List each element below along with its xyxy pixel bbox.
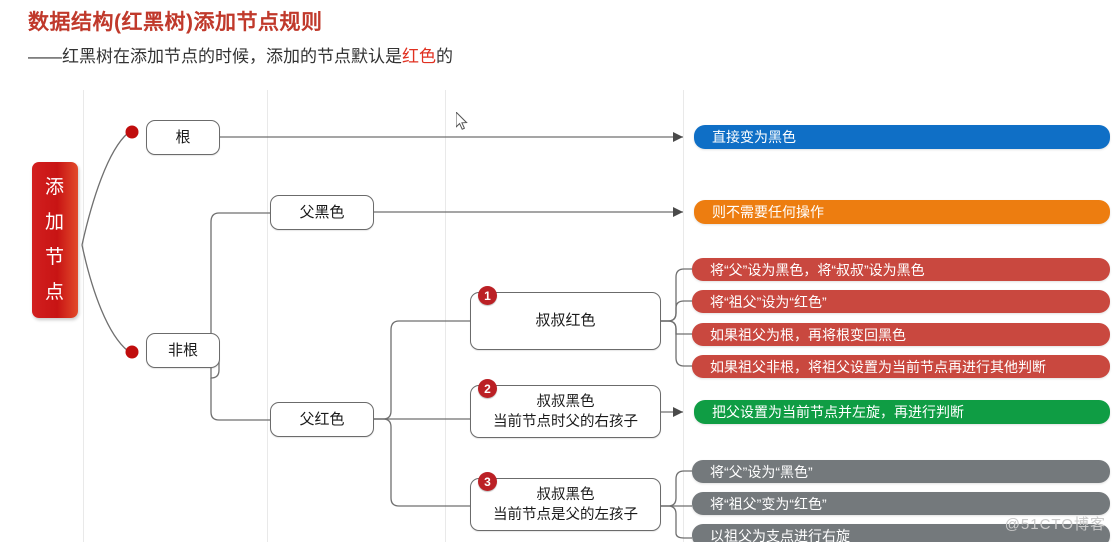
outcome-case3-step-2-label: 将“祖父”变为“红色” bbox=[710, 494, 827, 514]
page-subtitle: ——红黑树在添加节点的时候，添加的节点默认是红色的 bbox=[28, 42, 453, 67]
root-char-2: 节 bbox=[32, 240, 78, 275]
outcome-case1-step-3-label: 如果祖父为根，再将根变回黑色 bbox=[710, 325, 906, 345]
node-parent-red-label: 父红色 bbox=[299, 410, 344, 430]
branch-bullet bbox=[126, 126, 139, 139]
outcome-case3-step-1[interactable]: 将“父”设为“黑色” bbox=[692, 460, 1110, 483]
outcome-case1-step-2[interactable]: 将“祖父”设为“红色” bbox=[692, 290, 1110, 313]
arrow-head bbox=[673, 407, 683, 417]
arrow-head bbox=[673, 132, 683, 142]
node-case-3-line-2: 当前节点是父的左孩子 bbox=[493, 505, 638, 525]
node-case-3-uncle-black-left-child[interactable]: 叔叔黑色 当前节点是父的左孩子 bbox=[470, 478, 661, 531]
node-case-1-uncle-red[interactable]: 叔叔红色 bbox=[470, 292, 661, 350]
guide-line bbox=[267, 90, 268, 542]
node-case-1-label: 叔叔红色 bbox=[535, 311, 595, 331]
node-case-2-line-2: 当前节点时父的右孩子 bbox=[493, 412, 638, 432]
root-char-0: 添 bbox=[32, 170, 78, 205]
outcome-root-turn-black[interactable]: 直接变为黑色 bbox=[694, 125, 1110, 149]
node-case-2-line-1: 叔叔黑色 bbox=[537, 392, 595, 412]
guide-line bbox=[683, 90, 684, 542]
outcome-case2-step-1-label: 把父设置为当前节点并左旋，再进行判断 bbox=[712, 402, 964, 422]
root-char-1: 加 bbox=[32, 205, 78, 240]
outcome-root-turn-black-label: 直接变为黑色 bbox=[712, 127, 796, 147]
root-node-add-node[interactable]: 添 加 节 点 bbox=[32, 162, 78, 318]
node-non-root[interactable]: 非根 bbox=[146, 333, 220, 368]
page-title: 数据结构(红黑树)添加节点规则 bbox=[28, 6, 323, 36]
node-case-2-uncle-black-right-child[interactable]: 叔叔黑色 当前节点时父的右孩子 bbox=[470, 385, 661, 438]
node-parent-red[interactable]: 父红色 bbox=[270, 402, 374, 437]
node-non-root-label: 非根 bbox=[168, 341, 198, 361]
subtitle-highlight: 红色 bbox=[402, 47, 436, 66]
outcome-case1-step-2-label: 将“祖父”设为“红色” bbox=[710, 292, 827, 312]
node-root[interactable]: 根 bbox=[146, 120, 220, 155]
node-case-3-line-1: 叔叔黑色 bbox=[537, 485, 595, 505]
branch-bullet bbox=[126, 346, 139, 359]
outcome-case1-step-1[interactable]: 将“父”设为黑色，将“叔叔”设为黑色 bbox=[692, 258, 1110, 281]
outcome-case1-step-4[interactable]: 如果祖父非根，将祖父设置为当前节点再进行其他判断 bbox=[692, 355, 1110, 378]
root-char-3: 点 bbox=[32, 275, 78, 310]
mindmap-canvas: 数据结构(红黑树)添加节点规则 ——红黑树在添加节点的时候，添加的节点默认是红色… bbox=[0, 0, 1120, 542]
guide-line bbox=[83, 90, 84, 542]
outcome-case1-step-1-label: 将“父”设为黑色，将“叔叔”设为黑色 bbox=[710, 260, 925, 280]
outcome-case1-step-4-label: 如果祖父非根，将祖父设置为当前节点再进行其他判断 bbox=[710, 357, 1046, 377]
outcome-case3-step-2[interactable]: 将“祖父”变为“红色” bbox=[692, 492, 1110, 515]
badge-case-1: 1 bbox=[478, 286, 497, 305]
badge-case-3: 3 bbox=[478, 472, 497, 491]
outcome-case1-step-3[interactable]: 如果祖父为根，再将根变回黑色 bbox=[692, 323, 1110, 346]
guide-line bbox=[445, 90, 446, 542]
badge-case-2: 2 bbox=[478, 379, 497, 398]
node-parent-black-label: 父黑色 bbox=[299, 203, 344, 223]
mouse-cursor-icon bbox=[456, 112, 470, 132]
subtitle-suffix: 的 bbox=[436, 47, 453, 66]
arrow-head bbox=[673, 207, 683, 217]
outcome-case3-step-1-label: 将“父”设为“黑色” bbox=[710, 462, 813, 482]
node-root-label: 根 bbox=[175, 128, 190, 148]
outcome-parent-black-no-op-label: 则不需要任何操作 bbox=[712, 202, 824, 222]
watermark: @51CTO博客 bbox=[1005, 513, 1106, 534]
outcome-parent-black-no-op[interactable]: 则不需要任何操作 bbox=[694, 200, 1110, 224]
outcome-case2-step-1[interactable]: 把父设置为当前节点并左旋，再进行判断 bbox=[694, 400, 1110, 424]
node-parent-black[interactable]: 父黑色 bbox=[270, 195, 374, 230]
outcome-case3-step-3-label: 以祖父为支点进行右旋 bbox=[710, 526, 850, 542]
subtitle-prefix: ——红黑树在添加节点的时候，添加的节点默认是 bbox=[28, 47, 402, 66]
